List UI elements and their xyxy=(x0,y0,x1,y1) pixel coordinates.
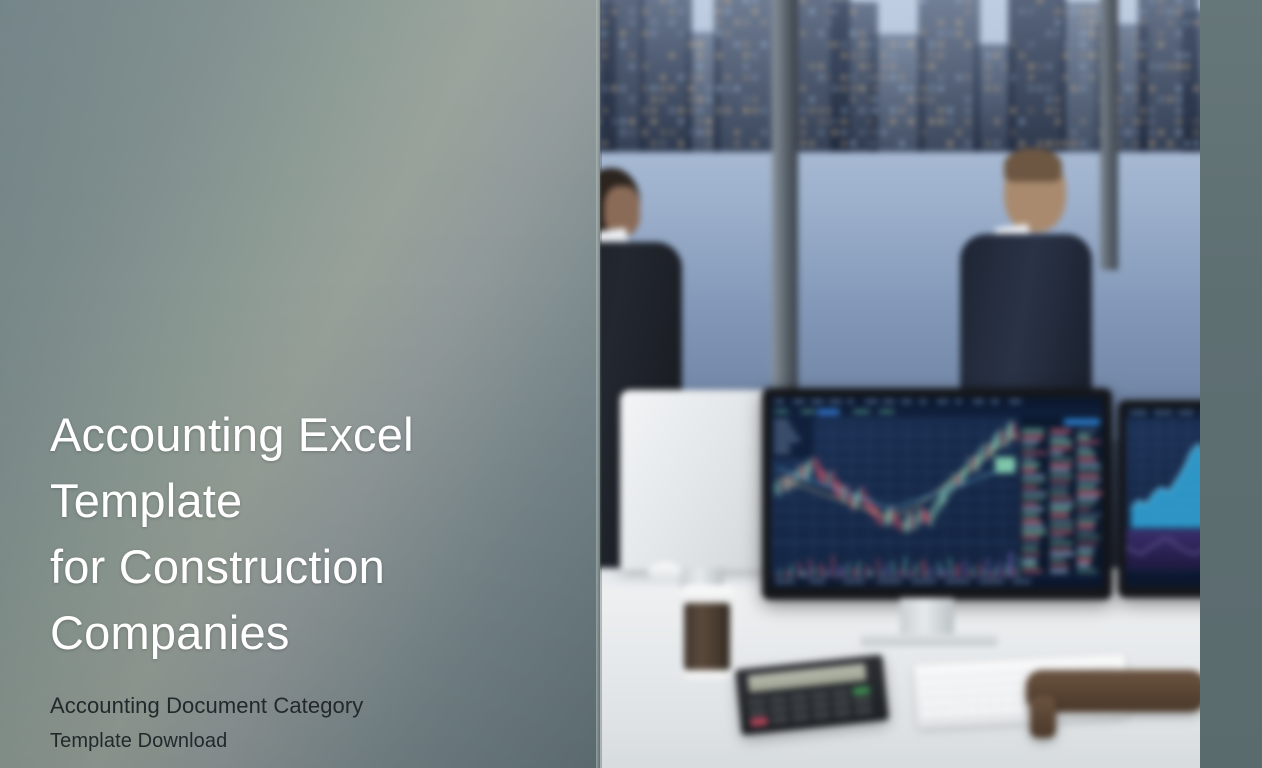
page-title-line-3: Companies xyxy=(50,600,610,666)
mouse xyxy=(648,562,682,580)
leather-chair-post xyxy=(1030,696,1056,738)
trading-monitor-secondary xyxy=(1118,400,1200,598)
right-slate-band xyxy=(1200,0,1262,768)
subtitle-category: Accounting Document Category xyxy=(50,693,610,719)
monitor-stand-foot xyxy=(860,634,998,646)
hero-content: Accounting Excel Template for Constructi… xyxy=(50,402,610,753)
hero-photo xyxy=(560,0,1200,768)
page-title-line-2: for Construction xyxy=(50,534,610,600)
window-mullion xyxy=(772,0,798,440)
primary-trading-chart xyxy=(771,397,1103,587)
trading-monitor-primary xyxy=(762,388,1112,600)
hero-slide: Accounting Excel Template for Constructi… xyxy=(0,0,1262,768)
secondary-area-chart xyxy=(1126,408,1200,586)
subtitle-download: Template Download xyxy=(50,730,610,753)
page-title: Accounting Excel Template for Constructi… xyxy=(50,402,610,666)
monitor-stand-neck xyxy=(900,598,954,638)
calculator-keypad xyxy=(748,685,878,728)
page-title-line-1: Accounting Excel Template xyxy=(50,402,610,534)
